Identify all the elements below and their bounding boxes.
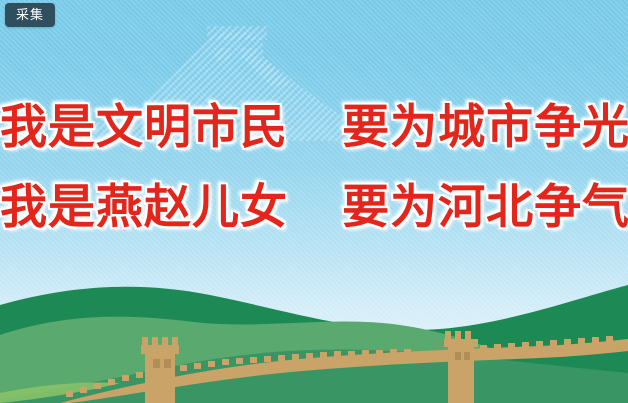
slogan-line-1: 我是文明市民 要为城市争光 xyxy=(0,103,628,150)
slogan-line-1-left: 我是文明市民 xyxy=(0,103,288,150)
slogan-line-1-right: 要为城市争光 xyxy=(342,103,628,150)
slogan-line-2-left: 我是燕赵儿女 xyxy=(0,183,288,230)
wall-tower-left xyxy=(141,337,179,403)
slogan-line-2: 我是燕赵儿女 要为河北争气 xyxy=(0,183,628,230)
capture-button[interactable]: 采集 xyxy=(5,3,55,27)
poster-canvas: 我是文明市民 要为城市争光 我是燕赵儿女 要为河北争气 采集 xyxy=(0,0,628,403)
slogan-line-2-right: 要为河北争气 xyxy=(342,183,628,230)
landscape-hills xyxy=(0,273,628,403)
wall-tower-right xyxy=(444,331,478,403)
